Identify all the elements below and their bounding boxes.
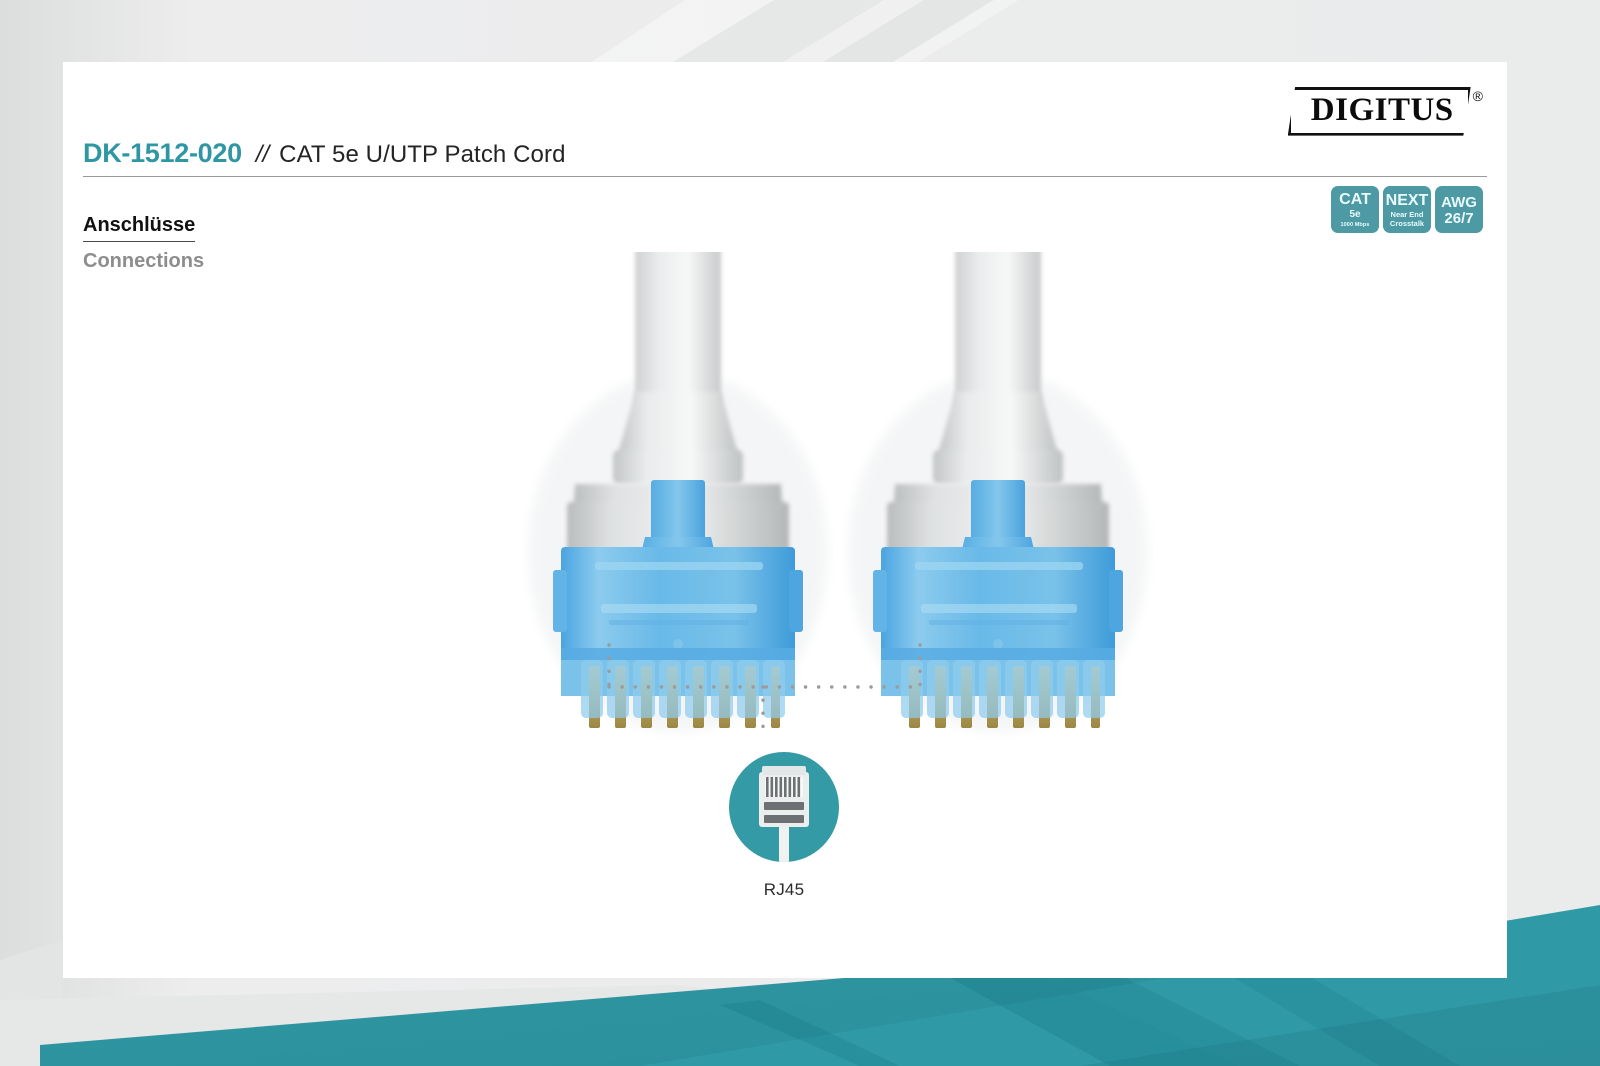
- section-heading-de: Anschlüsse: [83, 214, 195, 242]
- product-title: DK-1512-020 // CAT 5e U/UTP Patch Cord: [83, 138, 1487, 176]
- product-sku: DK-1512-020: [83, 138, 242, 169]
- logo-wordmark: DIGITUS: [1311, 92, 1454, 128]
- awg-badge-line1: AWG: [1441, 195, 1477, 210]
- spec-badges: CAT 5e 1000 Mbps NEXT Near End Crosstalk…: [1331, 186, 1483, 233]
- title-separator: //: [256, 141, 269, 169]
- brand-logo: DIGITUS ®: [1288, 87, 1483, 136]
- awg-badge: AWG 26/7: [1435, 186, 1483, 233]
- awg-badge-line2: 26/7: [1444, 211, 1473, 226]
- cat-badge: CAT 5e 1000 Mbps: [1331, 186, 1379, 233]
- rj45-connector-icon: [729, 752, 839, 862]
- title-divider: [83, 176, 1487, 177]
- content-card: DIGITUS ® DK-1512-020 // CAT 5e U/UTP Pa…: [63, 62, 1507, 978]
- cat-badge-line1: CAT: [1339, 192, 1371, 208]
- next-badge-line1: NEXT: [1386, 193, 1429, 209]
- product-title-row: DK-1512-020 // CAT 5e U/UTP Patch Cord: [83, 138, 1487, 177]
- section-heading-de-wrap: Anschlüsse: [83, 214, 204, 242]
- rj45-node: RJ45: [704, 752, 864, 900]
- next-badge: NEXT Near End Crosstalk: [1383, 186, 1431, 233]
- connection-diagram: [63, 637, 1507, 757]
- next-badge-sub2: Crosstalk: [1390, 220, 1424, 229]
- dotted-connector-lines: [63, 637, 1507, 757]
- product-name: CAT 5e U/UTP Patch Cord: [279, 141, 565, 169]
- registered-trademark-icon: ®: [1473, 89, 1483, 103]
- rj45-icon-circle: [729, 752, 839, 862]
- logo-frame: DIGITUS: [1288, 87, 1471, 136]
- rj45-label: RJ45: [764, 880, 805, 900]
- cat-badge-line2: 5e: [1349, 210, 1360, 220]
- cat-badge-line3: 1000 Mbps: [1340, 223, 1369, 229]
